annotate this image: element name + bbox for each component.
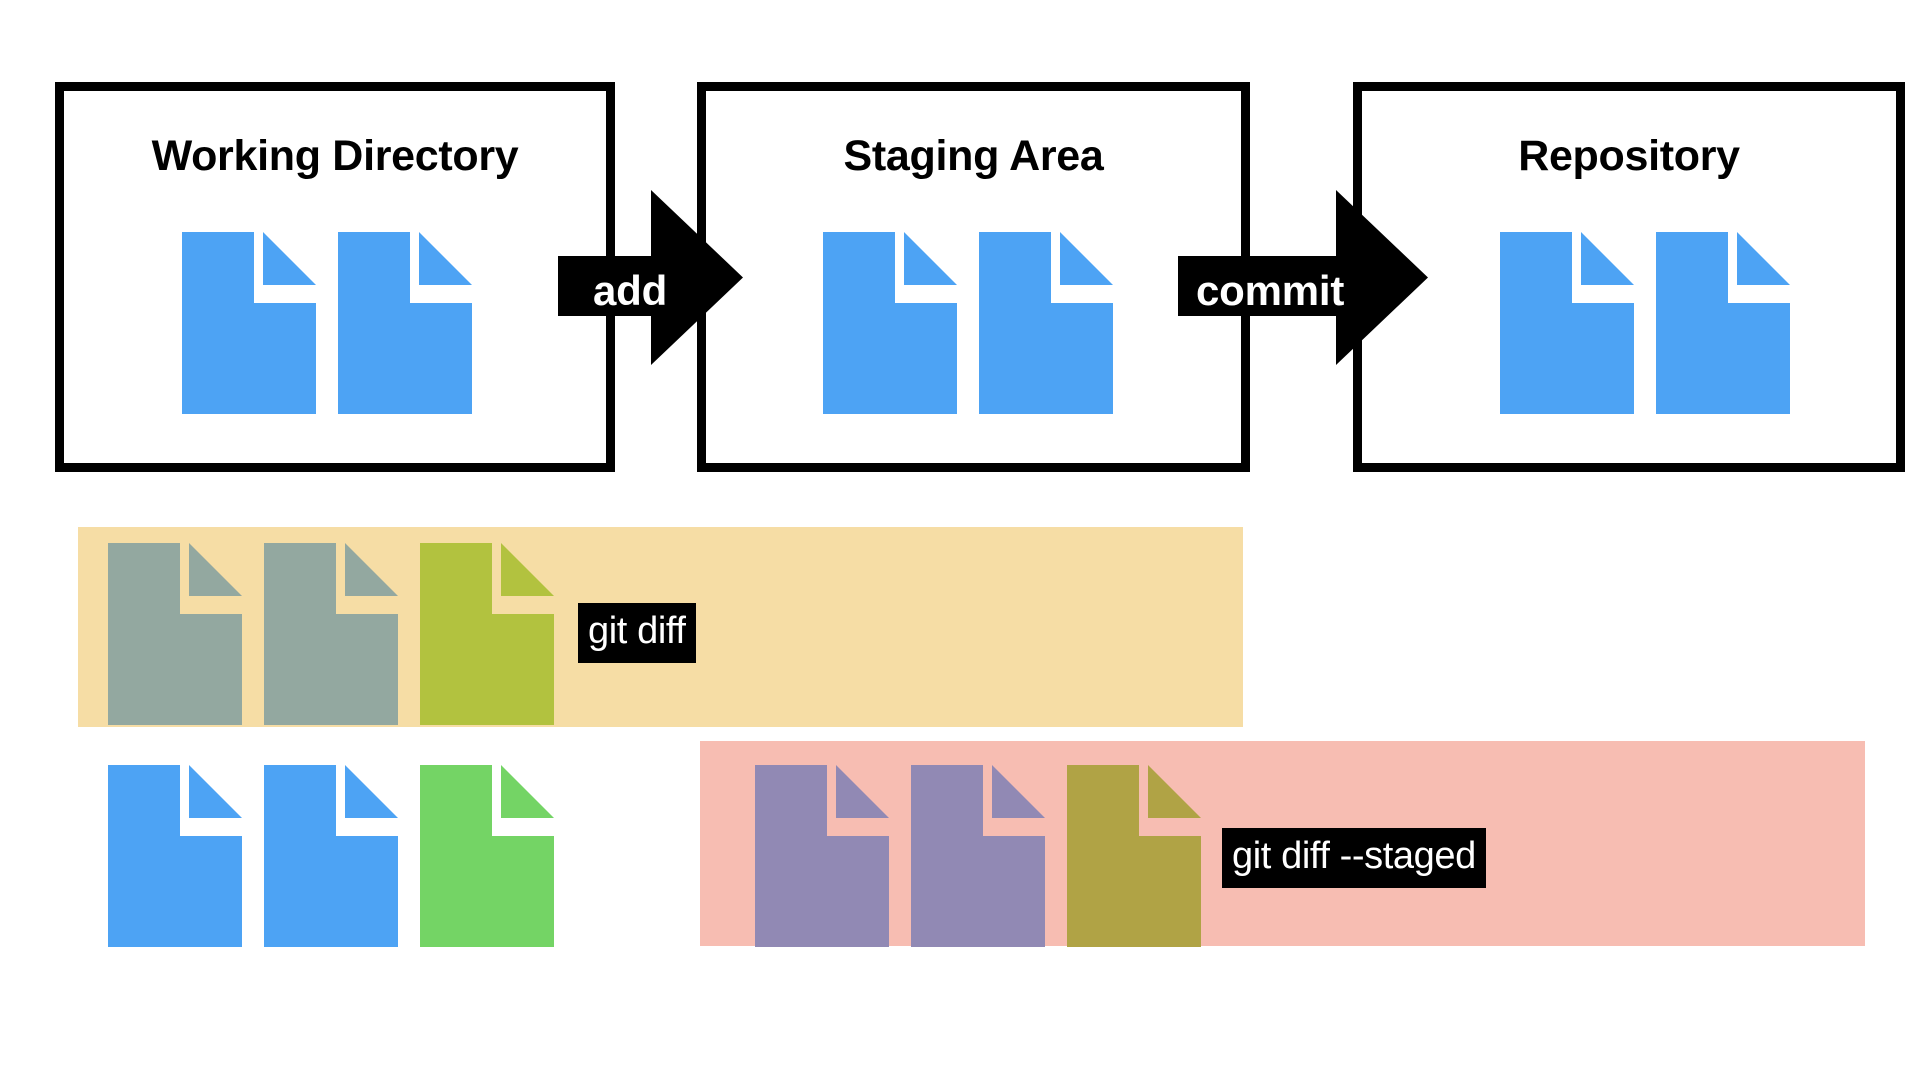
commit-arrow: commit: [1178, 190, 1428, 365]
document-row-staging-area: [823, 232, 1113, 414]
document-icon: [264, 543, 398, 725]
stage-title-working-directory: Working Directory: [64, 135, 606, 178]
document-row-working-directory: [182, 232, 472, 414]
document-icon: [108, 765, 242, 947]
stage-title-staging-area: Staging Area: [706, 135, 1241, 178]
document-icon: [1656, 232, 1790, 414]
add-arrow-label: add: [593, 270, 667, 312]
document-icon: [979, 232, 1113, 414]
document-icon: [755, 765, 889, 947]
document-icon: [420, 543, 554, 725]
document-row-git-diff-staged-band: [755, 765, 1201, 947]
document-icon: [108, 543, 242, 725]
commit-arrow-label: commit: [1196, 270, 1344, 312]
command-chip-git-diff-band: git diff: [578, 603, 696, 663]
document-icon: [264, 765, 398, 947]
document-icon: [1067, 765, 1201, 947]
document-icon: [182, 232, 316, 414]
document-icon: [823, 232, 957, 414]
diagram-canvas: Working DirectoryStaging AreaRepositorya…: [0, 0, 1920, 1080]
document-icon: [1500, 232, 1634, 414]
document-row-working-tree-docs: [108, 765, 554, 947]
document-icon: [911, 765, 1045, 947]
document-icon: [420, 765, 554, 947]
stage-title-repository: Repository: [1362, 135, 1896, 178]
document-row-git-diff-band: [108, 543, 554, 725]
add-arrow: add: [558, 190, 743, 365]
command-chip-git-diff-staged-band: git diff --staged: [1222, 828, 1486, 888]
document-icon: [338, 232, 472, 414]
document-row-repository: [1500, 232, 1790, 414]
